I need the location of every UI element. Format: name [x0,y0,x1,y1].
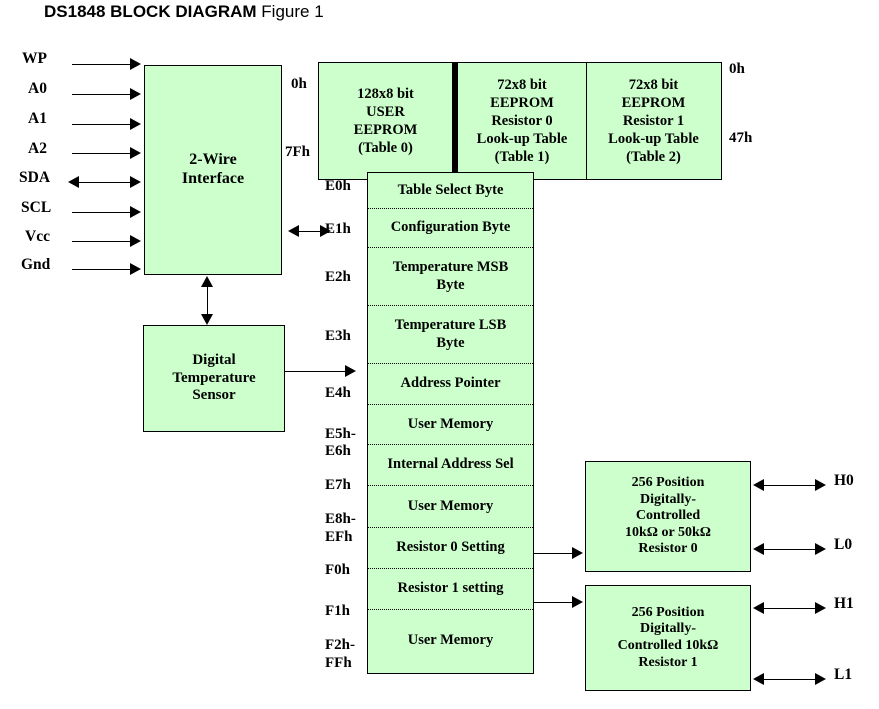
pin-label-a1: A1 [28,110,47,128]
title-main: DS1848 BLOCK DIAGRAM [44,2,257,21]
register-label-e5h-e6h: User Memory [408,416,494,433]
pin-label-a2: A2 [28,140,47,158]
pin-label-l0: L0 [834,536,852,554]
pin-line-l1 [763,679,818,680]
title-figure: Figure 1 [261,2,323,21]
register-row-e2h: Temperature MSB Byte [368,248,533,306]
register-label-e4h: Address Pointer [400,375,500,392]
register-label-e7h: Internal Address Sel [387,456,513,473]
interface-regmap-line [295,231,323,232]
pin-line-a0 [72,94,132,95]
register-row-f1h: Resistor 1 setting [368,569,533,610]
eeprom-lut0-line-1: 72x8 bit [477,76,568,94]
regmap-resistor0-arrow [572,547,583,559]
interface-sensor-arrow-down [201,314,213,325]
regmap-resistor1-line [534,602,576,603]
pin-arrow-vcc [130,235,141,247]
pin-arrow-l0-right [815,543,826,555]
eeprom-addr-left-top: 0h [291,77,307,93]
register-row-e7h: Internal Address Sel [368,445,533,486]
pin-arrow-sda-right [130,176,141,188]
register-addr-e1h: E1h [325,222,351,238]
register-addr-e5h: E5h- [325,427,356,443]
register-label-e3h-line-1: Temperature LSB [395,317,507,334]
register-label-f0h: Resistor 0 Setting [396,539,504,556]
resistor-1-line-3: Controlled 10kΩ [618,638,719,655]
register-label-e8h-efh: User Memory [408,498,494,515]
register-label-f2h-ffh: User Memory [408,632,494,649]
pin-arrow-a0 [130,88,141,100]
register-row-e8h-efh: User Memory [368,486,533,528]
pin-arrow-a2 [130,147,141,159]
resistor-0-line-3: Controlled [625,508,711,525]
pin-line-a1 [72,124,132,125]
pin-label-h1: H1 [834,595,854,613]
temp-sensor-line-1: Digital [172,352,255,370]
eeprom-lut1-cell: 72x8 bit EEPROM Resistor 1 Look-up Table… [586,63,720,179]
register-row-e3h: Temperature LSB Byte [368,306,533,364]
digital-temperature-sensor-block: Digital Temperature Sensor [143,325,285,432]
pin-arrow-h1-left [753,602,764,614]
eeprom-lut1-line-2: EEPROM [608,94,699,112]
eeprom-table-row: 128x8 bit USER EEPROM (Table 0) 72x8 bit… [318,62,722,180]
temp-sensor-line-3: Sensor [172,387,255,405]
pin-arrow-h1-right [815,602,826,614]
register-label-e2h-line-1: Temperature MSB [393,259,509,276]
pin-arrow-h0-right [815,479,826,491]
pin-line-sda [78,182,132,183]
register-addr-e4h: E4h [325,386,351,402]
pin-label-a0: A0 [28,80,47,98]
pin-label-vcc: Vcc [25,228,50,246]
sensor-regmap-arrow [345,365,356,377]
eeprom-lut1-line-1: 72x8 bit [608,76,699,94]
pin-label-h0: H0 [834,472,854,490]
resistor-0-line-4: 10kΩ or 50kΩ [625,525,711,542]
interface-sensor-arrow-up [201,276,213,287]
register-row-f0h: Resistor 0 Setting [368,528,533,569]
eeprom-lut0-line-4: Look-up Table [477,130,568,148]
register-label-e0h: Table Select Byte [398,182,504,199]
eeprom-lut0-line-5: (Table 1) [477,148,568,166]
pin-label-gnd: Gnd [21,256,50,274]
pin-line-l0 [763,549,818,550]
eeprom-addr-right-bottom: 47h [729,131,752,147]
register-row-f2h-ffh: User Memory [368,610,533,672]
register-addr-e3h: E3h [325,329,351,345]
pin-label-scl: SCL [21,199,51,217]
eeprom-lut1-line-4: Look-up Table [608,130,699,148]
pin-label-wp: WP [22,50,47,68]
pin-label-l1: L1 [834,666,852,684]
resistor-1-line-1: 256 Position [618,605,719,622]
eeprom-user-line-3: EEPROM [354,121,418,139]
register-row-e0h: Table Select Byte [368,173,533,209]
resistor-0-line-2: Digitally- [625,492,711,509]
pin-line-a2 [72,153,132,154]
register-row-e1h: Configuration Byte [368,209,533,248]
two-wire-interface-block: 2-Wire Interface [144,65,282,275]
regmap-resistor0-line [534,553,576,554]
register-label-e1h: Configuration Byte [391,219,511,236]
interface-sensor-line [207,286,208,317]
register-addr-e7h: E7h [325,478,351,494]
resistor-1-line-2: Digitally- [618,621,719,638]
register-label-e3h-line-2: Byte [395,335,507,352]
two-wire-interface-line-2: Interface [182,170,244,189]
pin-arrow-a1 [130,118,141,130]
resistor-0-block: 256 Position Digitally- Controlled 10kΩ … [585,461,751,572]
eeprom-user-line-2: USER [354,103,418,121]
eeprom-lut1-line-3: Resistor 1 [608,112,699,130]
register-addr-e8h: E8h- [325,512,356,528]
pin-line-h0 [763,485,818,486]
register-row-e5h-e6h: User Memory [368,405,533,445]
pin-line-h1 [763,608,818,609]
block-diagram-figure: DS1848 BLOCK DIAGRAM Figure 1 WP A0 A1 A… [0,0,879,709]
pin-line-gnd [72,269,132,270]
regmap-resistor1-arrow [572,596,583,608]
register-addr-ffh: FFh [325,656,352,672]
eeprom-addr-left-bottom: 7Fh [285,145,310,161]
eeprom-lut0-cell: 72x8 bit EEPROM Resistor 0 Look-up Table… [452,63,586,179]
pin-line-vcc [72,241,132,242]
eeprom-user-line-1: 128x8 bit [354,85,418,103]
interface-regmap-arrow-left [288,225,299,237]
resistor-1-line-4: Resistor 1 [618,655,719,672]
temp-sensor-line-2: Temperature [172,370,255,388]
pin-line-wp [72,64,132,65]
pin-arrow-wp [130,58,141,70]
register-addr-e6h: E6h [325,444,351,460]
resistor-0-line-5: Resistor 0 [625,541,711,558]
eeprom-lut0-line-2: EEPROM [477,94,568,112]
register-map: Table Select Byte Configuration Byte Tem… [367,172,534,674]
two-wire-interface-line-1: 2-Wire [182,151,244,170]
register-addr-efh: EFh [325,530,353,546]
page-title: DS1848 BLOCK DIAGRAM Figure 1 [44,2,324,22]
eeprom-lut1-line-5: (Table 2) [608,148,699,166]
register-label-f1h: Resistor 1 setting [397,580,503,597]
register-addr-e2h: E2h [325,270,351,286]
resistor-1-block: 256 Position Digitally- Controlled 10kΩ … [585,585,751,691]
pin-label-sda: SDA [19,169,50,187]
eeprom-lut0-line-3: Resistor 0 [477,112,568,130]
eeprom-user-cell: 128x8 bit USER EEPROM (Table 0) [319,63,452,179]
pin-arrow-l1-right [815,673,826,685]
register-addr-f2h: F2h- [325,638,355,654]
register-addr-e0h: E0h [325,179,351,195]
pin-arrow-l0-left [753,543,764,555]
register-label-e2h-line-2: Byte [393,277,509,294]
resistor-0-line-1: 256 Position [625,475,711,492]
pin-arrow-l1-left [753,673,764,685]
eeprom-addr-right-top: 0h [729,62,745,78]
register-row-e4h: Address Pointer [368,364,533,405]
eeprom-user-line-4: (Table 0) [354,139,418,157]
pin-arrow-gnd [130,263,141,275]
register-addr-f0h: F0h [325,563,350,579]
pin-line-scl [72,212,132,213]
sensor-regmap-line [285,371,351,372]
pin-arrow-h0-left [753,479,764,491]
register-addr-f1h: F1h [325,604,350,620]
pin-arrow-sda-left [68,176,79,188]
pin-arrow-scl [130,206,141,218]
